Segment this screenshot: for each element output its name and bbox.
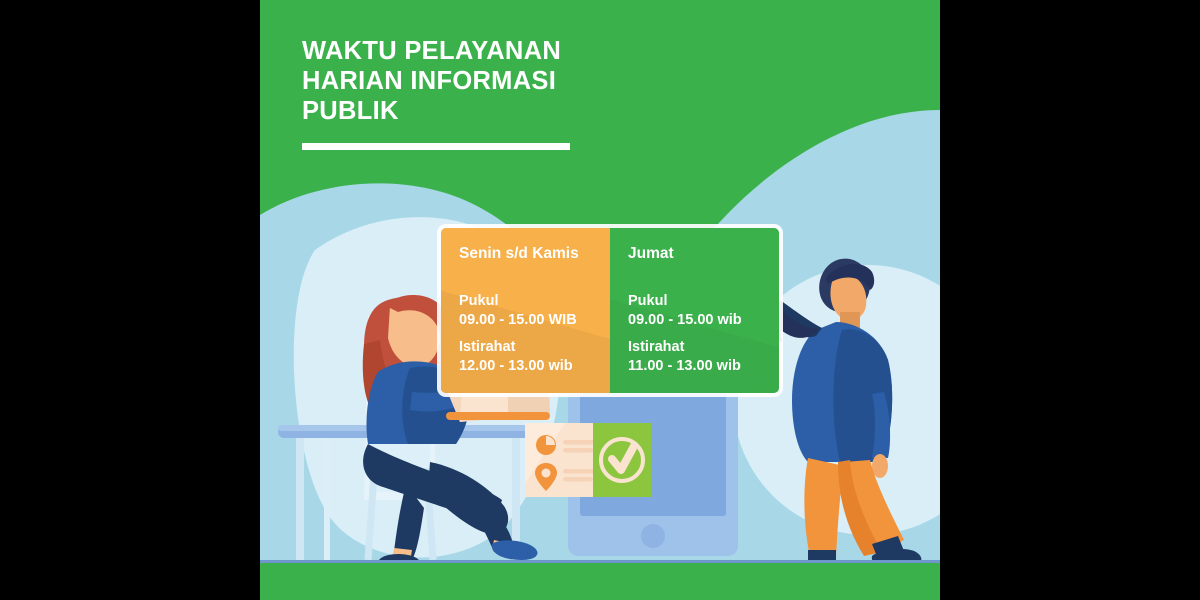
clock-icon bbox=[536, 435, 556, 455]
schedule-day-label: Jumat bbox=[628, 244, 779, 264]
floor-line bbox=[260, 560, 940, 563]
schedule-day-label: Senin s/d Kamis bbox=[459, 244, 610, 264]
schedule-row-break: Istirahat 11.00 - 13.00 wib bbox=[628, 338, 779, 376]
schedule-row-value: 09.00 - 15.00 WIB bbox=[459, 311, 610, 330]
schedule-card: Senin s/d Kamis Pukul 09.00 - 15.00 WIB … bbox=[441, 228, 779, 393]
schedule-row-value: 11.00 - 13.00 wib bbox=[628, 357, 779, 376]
schedule-panel-friday: Jumat Pukul 09.00 - 15.00 wib Istirahat … bbox=[610, 228, 779, 393]
schedule-panel-weekday: Senin s/d Kamis Pukul 09.00 - 15.00 WIB … bbox=[441, 228, 610, 393]
schedule-row-break: Istirahat 12.00 - 13.00 wib bbox=[459, 338, 610, 376]
title-line-1: WAKTU PELAYANAN bbox=[302, 36, 632, 66]
schedule-row-hours: Pukul 09.00 - 15.00 WIB bbox=[459, 292, 610, 330]
title-line-3: PUBLIK bbox=[302, 96, 632, 126]
info-line-2b bbox=[563, 477, 593, 482]
title-line-2: HARIAN INFORMASI bbox=[302, 66, 632, 96]
poster-canvas: WAKTU PELAYANAN HARIAN INFORMASI PUBLIK … bbox=[260, 0, 940, 600]
schedule-row-label: Pukul bbox=[459, 292, 610, 311]
schedule-panel-body: Pukul 09.00 - 15.00 wib Istirahat 11.00 … bbox=[628, 292, 779, 376]
schedule-panel-body: Pukul 09.00 - 15.00 WIB Istirahat 12.00 … bbox=[459, 292, 610, 376]
info-line-1b bbox=[563, 448, 593, 453]
page-title: WAKTU PELAYANAN HARIAN INFORMASI PUBLIK bbox=[302, 36, 632, 150]
schedule-row-value: 12.00 - 13.00 wib bbox=[459, 357, 610, 376]
info-card bbox=[525, 423, 651, 497]
schedule-row-label: Pukul bbox=[628, 292, 779, 311]
title-underline-rule bbox=[302, 143, 570, 150]
bottom-green-band bbox=[260, 562, 940, 600]
schedule-row-label: Istirahat bbox=[628, 338, 779, 357]
schedule-row-hours: Pukul 09.00 - 15.00 wib bbox=[628, 292, 779, 330]
poster-stage: WAKTU PELAYANAN HARIAN INFORMASI PUBLIK … bbox=[0, 0, 1200, 600]
schedule-row-value: 09.00 - 15.00 wib bbox=[628, 311, 779, 330]
schedule-row-label: Istirahat bbox=[459, 338, 610, 357]
